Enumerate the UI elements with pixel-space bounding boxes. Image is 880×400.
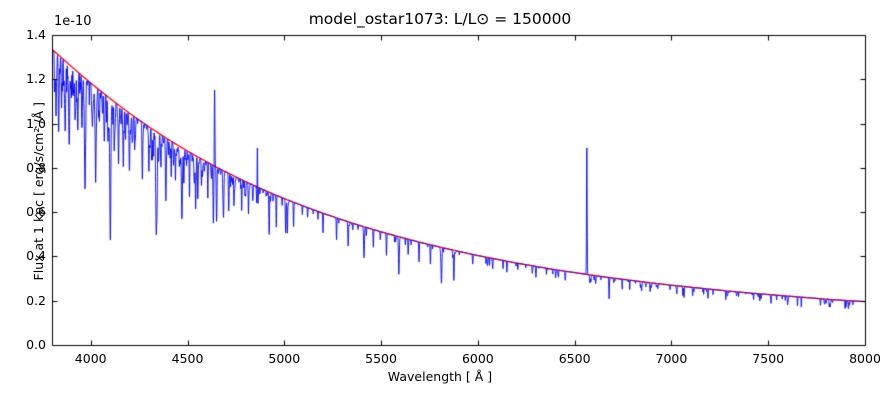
x-axis-label: Wavelength [ Å ] bbox=[0, 371, 880, 384]
x-tick-label: 5000 bbox=[268, 353, 300, 366]
x-tick-label: 8000 bbox=[849, 353, 880, 366]
y-axis-offset-label: 1e-10 bbox=[54, 15, 92, 28]
spectrum-plot-canvas bbox=[0, 0, 880, 400]
y-tick-label: 0.6 bbox=[4, 206, 46, 219]
x-tick-label: 5500 bbox=[365, 353, 397, 366]
chart-title: model_ostar1073: L/L⊙ = 150000 bbox=[0, 12, 880, 28]
y-tick-label: 0.8 bbox=[4, 162, 46, 175]
y-tick-label: 1.0 bbox=[4, 117, 46, 130]
x-tick-label: 4000 bbox=[75, 353, 107, 366]
y-tick-label: 1.4 bbox=[4, 29, 46, 42]
x-tick-label: 4500 bbox=[172, 353, 204, 366]
x-tick-label: 7000 bbox=[656, 353, 688, 366]
figure-canvas-container: model_ostar1073: L/L⊙ = 150000 1e-10 Wav… bbox=[0, 0, 880, 400]
x-tick-label: 6000 bbox=[462, 353, 494, 366]
x-tick-label: 6500 bbox=[559, 353, 591, 366]
y-tick-label: 0.0 bbox=[4, 339, 46, 352]
y-tick-label: 0.2 bbox=[4, 294, 46, 307]
x-tick-label: 7500 bbox=[752, 353, 784, 366]
y-tick-label: 1.2 bbox=[4, 73, 46, 86]
y-tick-label: 0.4 bbox=[4, 250, 46, 263]
